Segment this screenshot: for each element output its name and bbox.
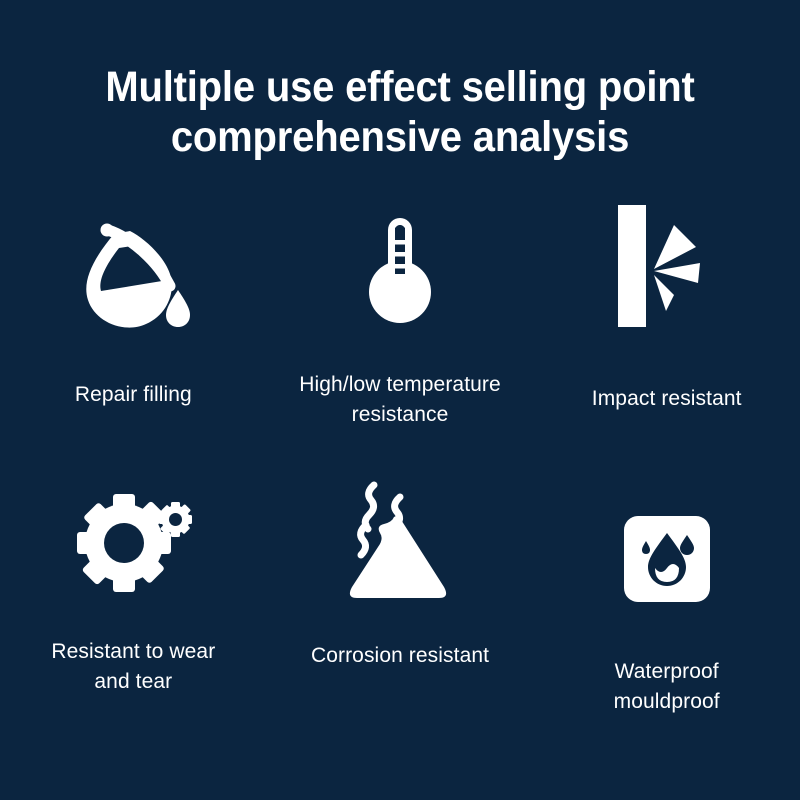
waterproof-droplet-badge-icon	[624, 489, 710, 629]
page-title-line-2: comprehensive analysis	[84, 112, 716, 162]
feature-row-bottom: Resistant to wear and tear	[0, 467, 800, 717]
paint-bucket-drop-icon	[74, 202, 192, 342]
feature-label-line-2: resistance	[352, 403, 449, 426]
feature-label-repair-filling: Repair filling	[75, 380, 192, 410]
feature-label-line-2: and tear	[94, 670, 172, 693]
feature-label-line-1: Resistant to wear	[51, 640, 215, 663]
feature-poster: Multiple use effect selling point compre…	[0, 0, 800, 800]
feature-label-temperature-resistance: High/low temperature resistance	[299, 370, 501, 430]
feature-item-impact-resistant[interactable]: Impact resistant	[533, 192, 800, 467]
feature-label-line-1: High/low temperature	[299, 373, 501, 396]
impact-shatter-icon	[614, 196, 720, 336]
thermometer-icon	[360, 204, 440, 344]
page-title: Multiple use effect selling point compre…	[0, 0, 800, 162]
feature-label-impact-resistant: Impact resistant	[592, 384, 742, 414]
feature-grid: Repair filling	[0, 162, 800, 800]
feature-label-line-2: mouldproof	[614, 690, 720, 713]
feature-item-temperature-resistance[interactable]: High/low temperature resistance	[267, 192, 534, 467]
feature-label-waterproof-mouldproof: Waterproof mouldproof	[614, 657, 720, 717]
feature-item-repair-filling[interactable]: Repair filling	[0, 192, 267, 467]
feature-label-corrosion-resistant: Corrosion resistant	[311, 641, 489, 671]
gears-icon	[73, 473, 193, 613]
feature-item-corrosion-resistant[interactable]: Corrosion resistant	[267, 467, 534, 717]
feature-label-wear-resistant: Resistant to wear and tear	[51, 637, 215, 697]
feature-row-top: Repair filling	[0, 192, 800, 467]
feature-label-line-1: Waterproof	[615, 660, 719, 683]
page-title-line-1: Multiple use effect selling point	[84, 62, 716, 112]
corrosion-fumes-icon	[340, 471, 460, 611]
feature-item-waterproof-mouldproof[interactable]: Waterproof mouldproof	[533, 467, 800, 717]
feature-item-wear-resistant[interactable]: Resistant to wear and tear	[0, 467, 267, 717]
